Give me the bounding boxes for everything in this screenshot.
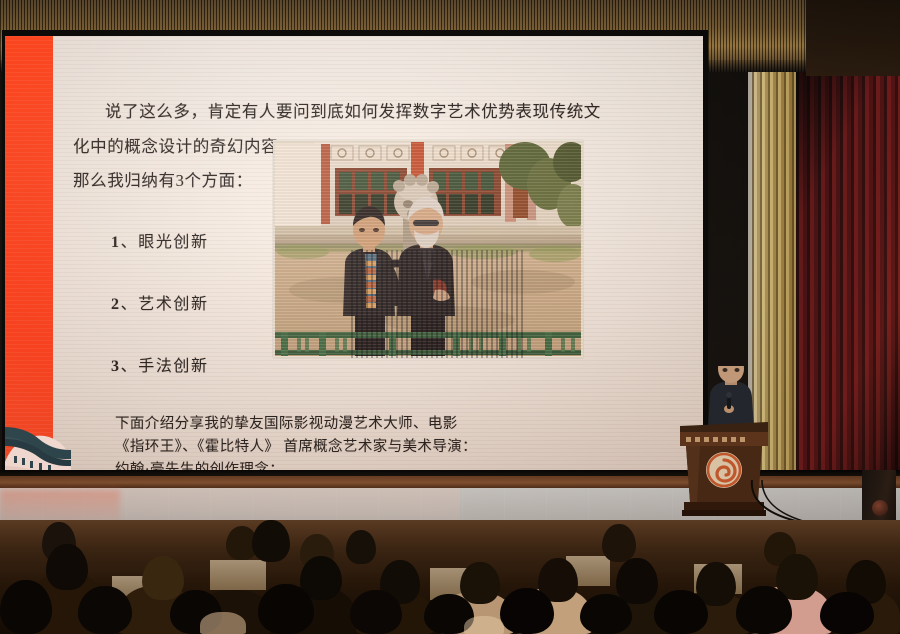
audience-head: [736, 586, 792, 634]
seated-audience: [0, 520, 900, 634]
audience-body: [200, 612, 246, 634]
slide-point-1-label: 眼光创新: [138, 234, 208, 251]
audience-head: [350, 590, 402, 634]
audience-head: [654, 590, 708, 634]
slide-point-1: 1、眼光创新: [111, 228, 209, 252]
audience-head: [218, 560, 258, 604]
audience-head: [78, 586, 132, 634]
slide-paragraph1-line2: 化中的概念设计的奇幻内容。: [73, 133, 295, 157]
slide-point-2-number: 2: [111, 296, 121, 313]
audience-head: [0, 580, 52, 634]
presenter-at-podium: [700, 366, 762, 428]
audience-head: [258, 584, 314, 634]
audience-head: [616, 558, 658, 604]
audience-head: [346, 530, 376, 564]
audience-head: [252, 520, 290, 562]
slide-closing-line3: 约翰·豪先生的创作理念：: [115, 458, 284, 470]
presentation-slide: 说了这么多，肯定有人要问到底如何发挥数字艺术优势表现传统文 化中的概念设计的奇幻…: [5, 36, 703, 470]
audience-head: [46, 544, 88, 590]
slide-point-3-number: 3: [111, 358, 121, 375]
slide-point-2: 2、艺术创新: [111, 290, 209, 314]
slide-point-2-label: 艺术创新: [138, 296, 208, 313]
audience-head: [820, 592, 874, 634]
audience-head: [460, 562, 500, 604]
slide-embedded-photo: [273, 140, 583, 358]
slide-paragraph2: 那么我归纳有3个方面：: [73, 167, 253, 191]
lecture-hall-photo: 说了这么多，肯定有人要问到底如何发挥数字艺术优势表现传统文 化中的概念设计的奇幻…: [0, 0, 900, 634]
photo-artwork: [273, 140, 583, 358]
slide-point-3-label: 手法创新: [138, 358, 208, 375]
slide-paragraph1-line1: 说了这么多，肯定有人要问到底如何发挥数字艺术优势表现传统文: [105, 98, 601, 122]
upper-right-dark-wall: [806, 0, 900, 76]
audience-body: [464, 616, 504, 634]
slide-point-1-marker: 、: [121, 234, 139, 251]
slide-point-2-marker: 、: [121, 296, 139, 313]
slide-closing-line2: 《指环王》、《霍比特人》 首席概念艺术家与美术导演：: [115, 435, 477, 456]
curtain-fold-shading: [796, 72, 900, 476]
audience-head: [602, 524, 636, 562]
slide-point-3-marker: 、: [121, 358, 139, 375]
audience-head: [580, 594, 632, 634]
slide-point-3: 3、手法创新: [111, 352, 209, 376]
slide-point-1-number: 1: [111, 234, 121, 251]
audience-head: [500, 588, 554, 634]
audience-head: [142, 556, 184, 600]
slide-closing-line1: 下面介绍分享我的挚友国际影视动漫艺术大师、电影: [115, 412, 458, 433]
